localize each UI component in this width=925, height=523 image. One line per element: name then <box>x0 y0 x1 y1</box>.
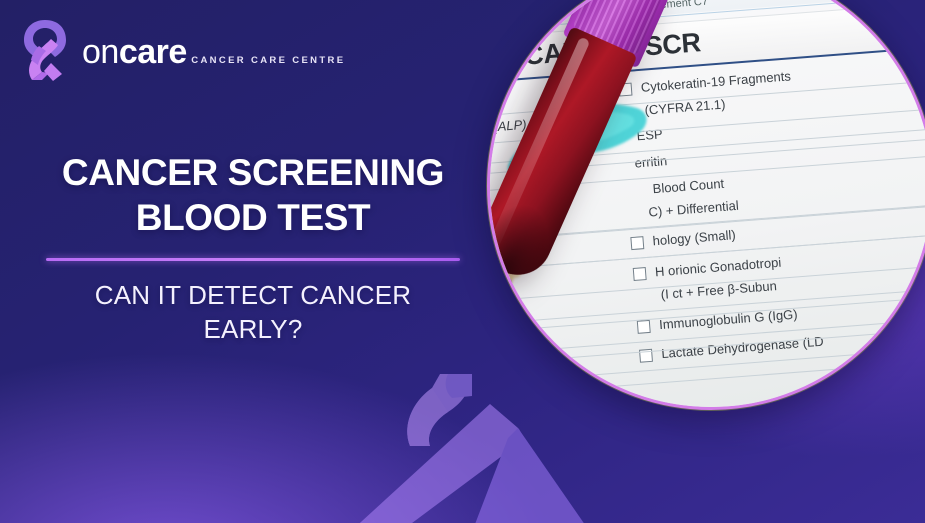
brand-logo[interactable]: oncare CANCER CARE CENTRE <box>18 17 345 83</box>
subheading-line-1: CAN IT DETECT CANCER <box>46 279 460 313</box>
subheading-line-2: EARLY? <box>46 313 460 347</box>
subheading: CAN IT DETECT CANCER EARLY? <box>46 279 460 347</box>
logo-wordmark-care: care <box>119 33 187 71</box>
checkbox-checked[interactable] <box>487 44 515 72</box>
red-check-mark-icon <box>487 36 520 69</box>
table-cell: Blood Count <box>652 173 725 197</box>
headline-line-1: CANCER SCREENING <box>46 150 460 195</box>
blood-test-photo: Complement C6 Complement C7 CANCER SCR <box>490 0 925 407</box>
photo-circle: Complement C6 Complement C7 CANCER SCR <box>487 0 925 410</box>
accent-divider <box>46 258 460 261</box>
headline-block: CANCER SCREENING BLOOD TEST CAN IT DETEC… <box>46 150 460 347</box>
table-cell: CEA <box>487 369 498 390</box>
headline-line-2: BLOOD TEST <box>46 195 460 240</box>
logo-wordmark-on: on <box>82 33 119 71</box>
awareness-ribbon-icon <box>18 17 73 83</box>
table-cell: CA 72.4 <box>487 335 513 357</box>
logo-wordmark: oncare <box>82 33 187 71</box>
promo-banner: oncare CANCER CARE CENTRE CANCER SCREENI… <box>0 0 925 523</box>
page-title: CANCER SCREENING BLOOD TEST <box>46 150 460 240</box>
logo-tagline: CANCER CARE CENTRE <box>191 55 345 66</box>
